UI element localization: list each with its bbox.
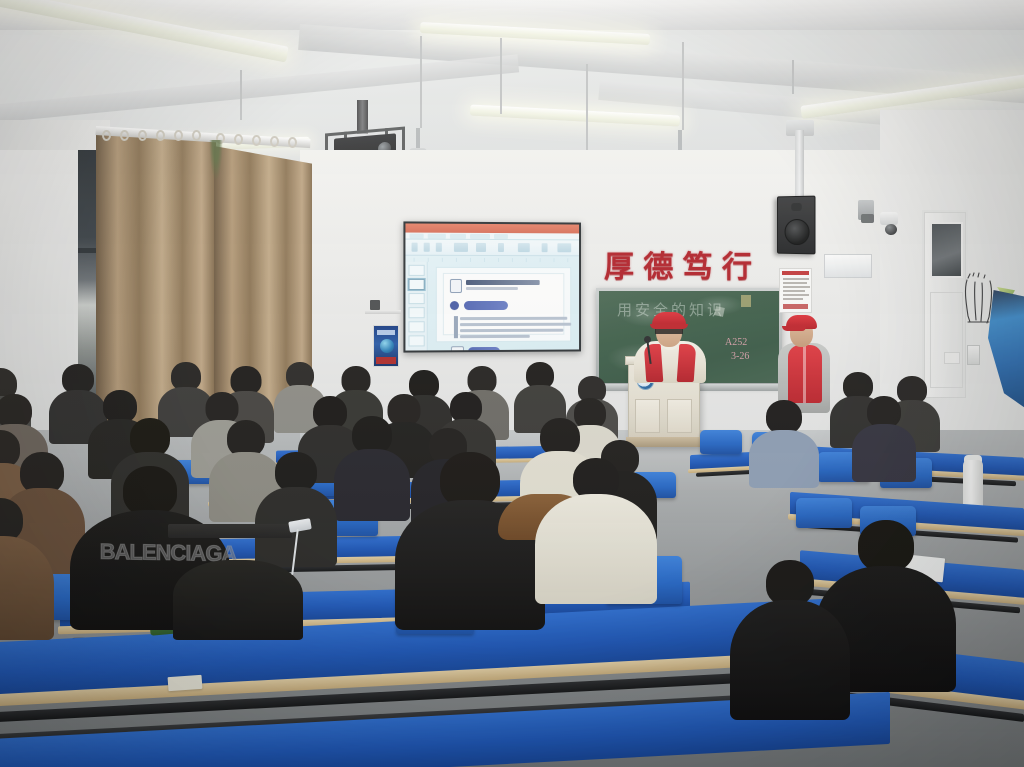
volunteer-cap-brim: [782, 326, 806, 331]
presenter-cap-brim: [650, 324, 688, 329]
seat: [796, 498, 852, 528]
fan-rod: [416, 128, 420, 150]
paper-scrap: [168, 675, 203, 691]
security-camera: [885, 224, 897, 235]
fan-hanger-rod: [420, 36, 422, 128]
blackboard-note: A252: [725, 337, 747, 348]
light-hanger-wire: [240, 70, 242, 120]
calligraphy-char: 厚: [604, 253, 634, 283]
light-hanger-wire: [500, 38, 502, 114]
speaker-tweeter-icon: [791, 203, 802, 211]
door-panel: [930, 292, 963, 388]
slide-content-card: [443, 273, 564, 335]
wall-speaker: [777, 196, 815, 255]
shelf-object: [384, 302, 396, 310]
slide-thumbnail-pane[interactable]: [405, 262, 427, 351]
podium-panel: [635, 399, 660, 433]
quote-bar: [454, 316, 458, 338]
calligraphy-char: 行: [722, 253, 752, 283]
fan-rod: [678, 130, 682, 152]
podium-base: [626, 437, 704, 447]
section-bullet-icon: [450, 301, 459, 310]
curtains[interactable]: [96, 128, 312, 428]
calligraphy-char: 德: [643, 253, 673, 283]
projection-screen: [403, 221, 581, 352]
wall-calligraphy: 厚 德 笃 行: [604, 250, 752, 286]
wall-label: [944, 352, 960, 364]
slide-subtitle-text: [466, 287, 518, 290]
security-camera: [861, 214, 874, 223]
projected-slide: [405, 223, 579, 350]
podium-panel: [667, 399, 692, 433]
speaker-woofer-icon: [785, 219, 810, 245]
wall-notice: [779, 268, 812, 313]
shelf-object: [370, 300, 380, 310]
seat: [700, 430, 742, 454]
slide-title-text: [466, 280, 540, 285]
slide-canvas: [436, 267, 571, 342]
conduit-pipe: [795, 130, 804, 200]
ruler: [414, 258, 576, 262]
ceiling-beam-diagonal: [0, 54, 519, 126]
blue-earth-poster: [373, 325, 399, 367]
wall-panel: [824, 254, 872, 278]
app-ribbon: [405, 240, 579, 257]
blackboard-note: 3-26: [731, 351, 749, 362]
pencil-icon: [451, 346, 464, 350]
classroom-scene: 厚 德 笃 行 用安全的知识 A252 3-26: [0, 0, 1024, 767]
light-hanger-wire: [792, 60, 794, 94]
volunteer-red-vest: [788, 345, 822, 403]
section-two-pill: [468, 347, 500, 351]
wall-shelf: [365, 310, 401, 314]
section-one-pill: [464, 301, 508, 310]
hanging-plant: [208, 140, 224, 188]
jacket-collar-tag: [168, 524, 292, 538]
light-switch[interactable]: [967, 345, 980, 365]
door-window: [930, 222, 963, 278]
camera-mount: [880, 212, 898, 225]
calligraphy-char: 笃: [683, 253, 713, 283]
curtain-hooks: [96, 130, 312, 144]
document-icon: [450, 279, 462, 293]
fan-hanger-rod: [682, 42, 684, 130]
globe-icon: [380, 339, 394, 353]
blackboard-sticker: [741, 295, 751, 307]
chalk-eraser: [714, 306, 725, 317]
microphone-icon: [644, 336, 651, 343]
